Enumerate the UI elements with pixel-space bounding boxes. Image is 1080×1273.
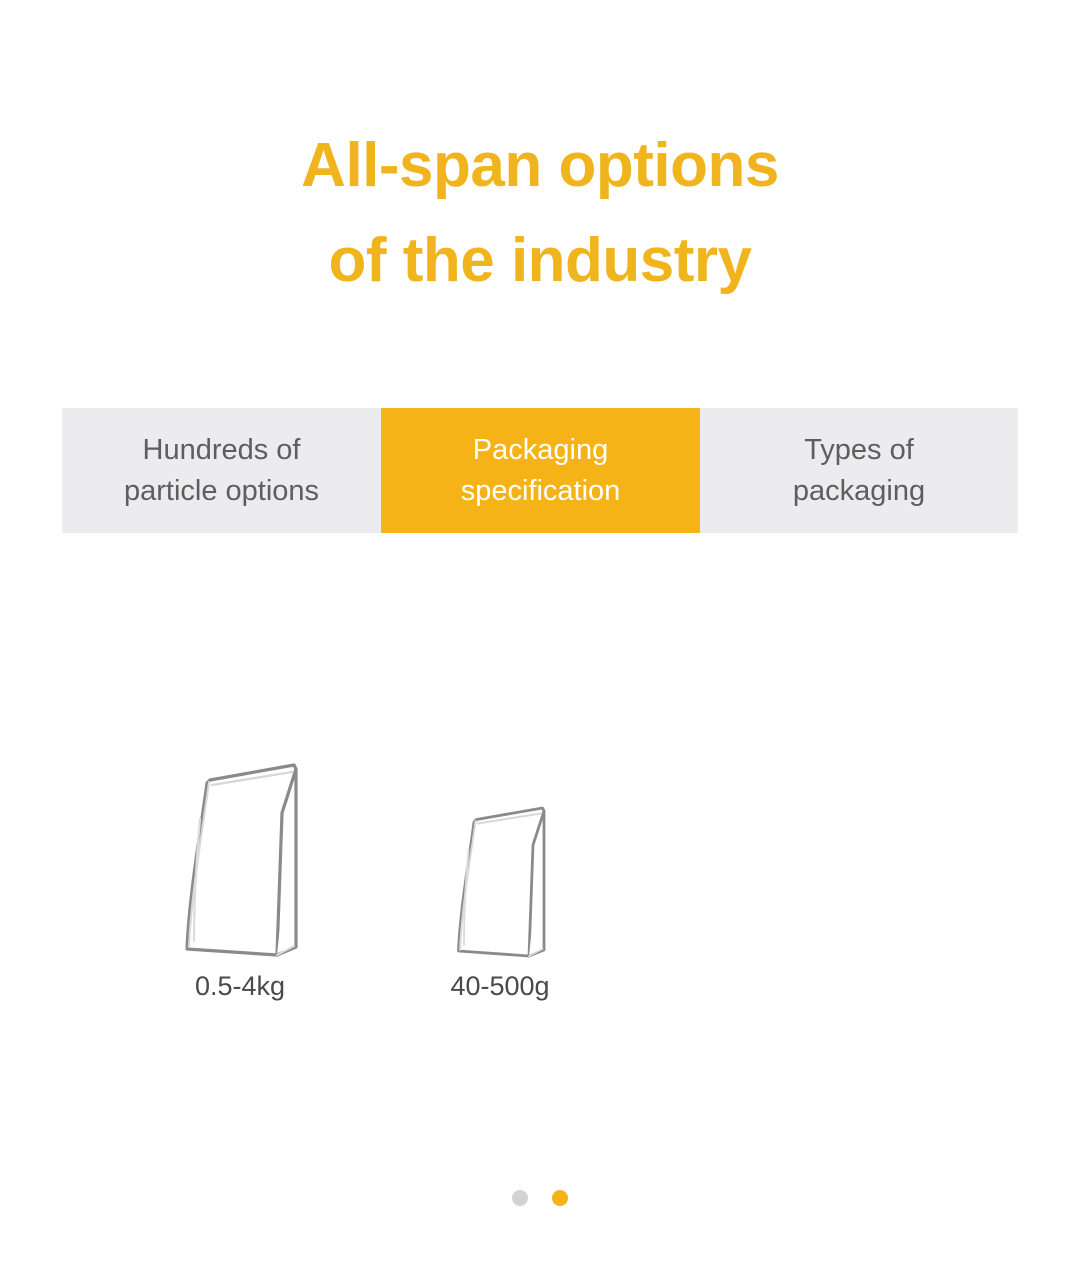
page-title-line-1: All-span options bbox=[0, 118, 1080, 213]
tab-label: Hundreds of particle options bbox=[124, 430, 319, 512]
tab-bar: Hundreds of particle options Packaging s… bbox=[62, 408, 1018, 533]
carousel-pagination bbox=[0, 1190, 1080, 1206]
page-title-line-2: of the industry bbox=[0, 213, 1080, 308]
pagination-dot[interactable] bbox=[512, 1190, 528, 1206]
packaging-bag-icon bbox=[340, 690, 660, 960]
tab-types-of-packaging[interactable]: Types of packaging bbox=[700, 408, 1018, 533]
product-list: 0.5-4kg 40-500g bbox=[62, 690, 1018, 1050]
tab-hundreds-of-particle-options[interactable]: Hundreds of particle options bbox=[62, 408, 381, 533]
tab-packaging-specification[interactable]: Packaging specification bbox=[381, 408, 700, 533]
pagination-dot-active[interactable] bbox=[552, 1190, 568, 1206]
page-title: All-span options of the industry bbox=[0, 118, 1080, 308]
product-label: 40-500g bbox=[340, 968, 660, 1004]
tab-label: Types of packaging bbox=[793, 430, 925, 512]
list-item[interactable]: 40-500g bbox=[340, 690, 660, 1050]
tab-label: Packaging specification bbox=[461, 430, 621, 512]
